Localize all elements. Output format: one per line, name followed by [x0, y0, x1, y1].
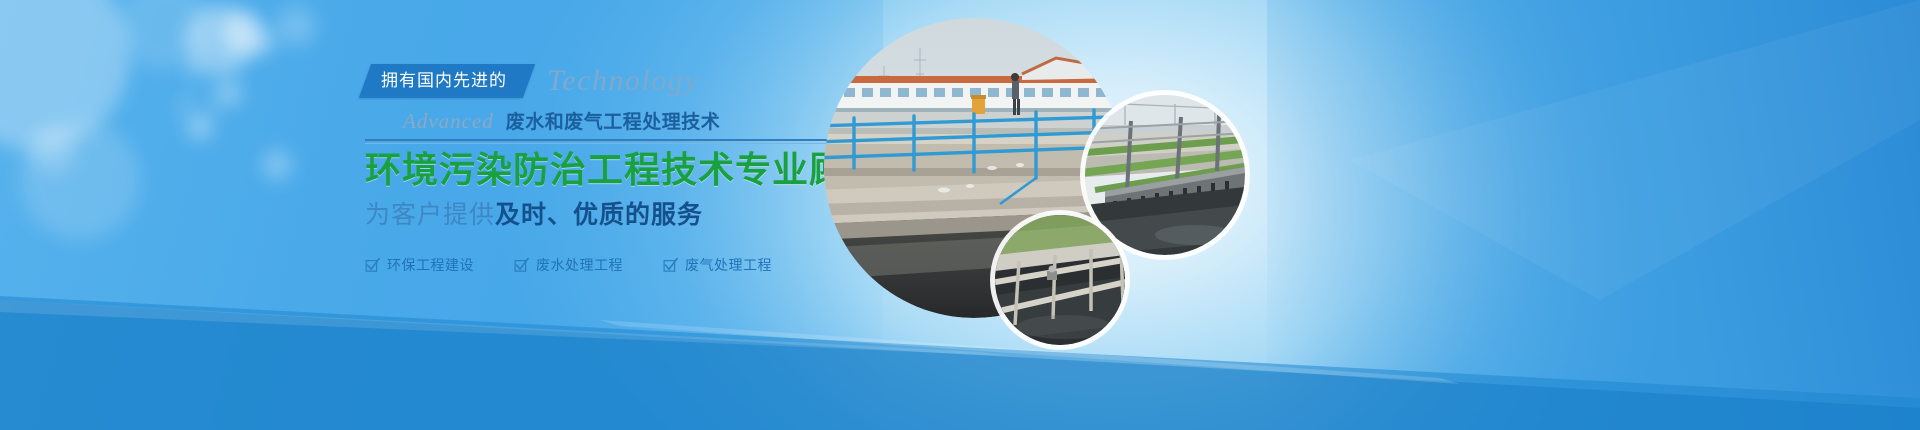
feature-label: 环保工程建设	[387, 255, 474, 275]
subtitle-cn: 废水和废气工程处理技术	[506, 107, 721, 134]
feature-item-0: 环保工程建设	[365, 255, 474, 275]
advanced-word: Advanced	[403, 109, 494, 134]
service-emphasis: 及时、优质的服务	[495, 201, 703, 229]
feature-item-2: 废气处理工程	[663, 255, 772, 275]
feature-list: 环保工程建设 废水处理工程 废气处理工程	[365, 255, 835, 275]
tagline-row: 拥有国内先进的 Technology	[365, 62, 835, 100]
hero-banner: 拥有国内先进的 Technology Advanced 废水和废气工程处理技术 …	[0, 0, 1920, 430]
background-right-wash	[1267, 0, 1920, 430]
feature-label: 废水处理工程	[536, 255, 623, 275]
aeration-pipes-photo	[1085, 95, 1245, 255]
tagline-badge: 拥有国内先进的	[359, 64, 535, 98]
service-line: 为客户提供及时、优质的服务	[365, 195, 835, 231]
tagline-label: 拥有国内先进的	[381, 64, 507, 98]
technology-word: Technology	[547, 66, 699, 96]
subtitle-row: Advanced 废水和废气工程处理技术	[365, 107, 835, 141]
service-prefix: 为客户提供	[365, 201, 495, 229]
feature-item-1: 废水处理工程	[514, 255, 623, 275]
feature-label: 废气处理工程	[685, 255, 772, 275]
check-icon	[514, 258, 529, 273]
page-title: 环境污染防治工程技术专业顾问	[365, 150, 835, 190]
hero-text-block: 拥有国内先进的 Technology Advanced 废水和废气工程处理技术 …	[365, 62, 835, 275]
check-icon	[365, 258, 380, 273]
check-icon	[663, 258, 678, 273]
sedimentation-basin-photo	[995, 215, 1125, 345]
